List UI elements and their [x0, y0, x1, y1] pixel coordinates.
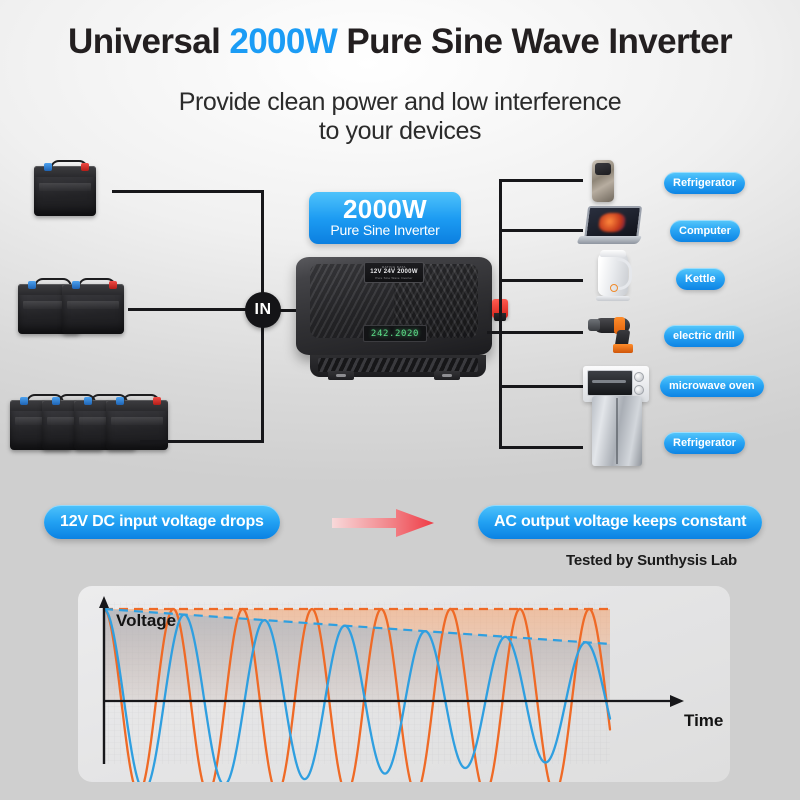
- title-highlight-wattage: 2000W: [229, 22, 337, 61]
- tested-by-label: Tested by Sunthysis Lab: [566, 552, 737, 569]
- subtitle-line-2: to your devices: [0, 117, 800, 146]
- input-node: IN: [245, 292, 281, 328]
- appliance-label-text: Refrigerator: [673, 177, 736, 189]
- oven-knob: [634, 385, 644, 395]
- chart-y-axis-label: Voltage: [116, 611, 176, 630]
- battery-negative-terminal: [84, 397, 92, 405]
- appliance-label-text: Kettle: [685, 273, 716, 285]
- appliance-label-5[interactable]: microwave oven: [660, 375, 764, 397]
- voltage-time-chart: Voltage Time: [78, 586, 730, 782]
- title-suffix: Pure Sine Wave Inverter: [337, 22, 732, 61]
- battery-positive-terminal: [81, 163, 89, 171]
- inverter-lcd-display: 242.2020: [363, 325, 427, 342]
- plate-rating: 12V 24V 2000W: [365, 269, 423, 276]
- wire-branch-4: [499, 331, 583, 334]
- laptop-icon: [578, 206, 640, 246]
- refrigerator-icon: [592, 396, 642, 466]
- wire-output-bus: [499, 179, 502, 449]
- battery-negative-terminal: [20, 397, 28, 405]
- subtitle-line-1: Provide clean power and low interference: [0, 88, 800, 117]
- battery-negative-terminal: [116, 397, 124, 405]
- inverter-body: RATING DATA 12V 24V 2000W Pure Sine Wave…: [296, 257, 492, 355]
- callout-output-text: AC output voltage keeps constant: [494, 513, 746, 531]
- laptop-base: [576, 236, 642, 244]
- kettle-base: [596, 296, 630, 301]
- right-arrow-icon: [330, 505, 440, 541]
- battery-negative-terminal: [52, 397, 60, 405]
- callout-output[interactable]: AC output voltage keeps constant: [478, 505, 762, 539]
- oven-knob: [634, 372, 644, 382]
- chart-canvas: Voltage Time: [78, 586, 730, 782]
- appliance-label-text: electric drill: [673, 330, 735, 342]
- battery-unit: [62, 284, 124, 334]
- title-prefix: Universal: [68, 22, 229, 61]
- drill-icon: [588, 310, 640, 356]
- appliance-label-text: microwave oven: [669, 380, 755, 392]
- tested-by-text: Tested by Sunthysis Lab: [566, 552, 737, 569]
- lcd-value: 242.2020: [371, 329, 419, 339]
- wire-battery-3: [140, 440, 264, 443]
- page-subtitle: Provide clean power and low interference…: [0, 88, 800, 146]
- smartphone-icon: [592, 160, 614, 202]
- wire-branch-5: [499, 385, 583, 388]
- inverter-mounting-foot: [434, 371, 460, 380]
- oven-door: [587, 370, 633, 396]
- drill-battery: [613, 344, 633, 353]
- kettle-handle: [617, 258, 632, 290]
- infographic-page: Universal 2000W Pure Sine Wave Inverter …: [0, 0, 800, 800]
- callout-input[interactable]: 12V DC input voltage drops: [44, 505, 280, 539]
- wire-battery-2: [128, 308, 264, 311]
- appliance-label-text: Computer: [679, 225, 731, 237]
- wire-branch-6: [499, 446, 583, 449]
- input-node-label: IN: [255, 301, 272, 319]
- appliance-label-text: Refrigerator: [673, 437, 736, 449]
- appliance-label-1[interactable]: Refrigerator: [664, 172, 745, 194]
- battery-negative-terminal: [72, 281, 80, 289]
- appliance-label-6[interactable]: Refrigerator: [664, 432, 745, 454]
- appliance-label-3[interactable]: Kettle: [676, 268, 725, 290]
- kettle-lid: [600, 250, 626, 257]
- kettle-indicator: [610, 284, 618, 292]
- plate-subtext: Pure Sine Wave Inverter: [365, 276, 423, 280]
- appliance-label-4[interactable]: electric drill: [664, 325, 744, 347]
- chart-x-axis-label: Time: [684, 711, 723, 730]
- badge-wattage: 2000W: [309, 192, 461, 222]
- inverter-rating-plate: RATING DATA 12V 24V 2000W Pure Sine Wave…: [364, 262, 424, 283]
- wire-branch-3: [499, 279, 583, 282]
- battery-positive-terminal: [109, 281, 117, 289]
- wire-branch-2: [499, 229, 583, 232]
- battery-positive-terminal: [153, 397, 161, 405]
- appliance-label-2[interactable]: Computer: [670, 220, 740, 242]
- kettle-icon: [594, 250, 632, 304]
- inverter-mounting-foot: [328, 371, 354, 380]
- battery-unit: [34, 166, 96, 216]
- battery-negative-terminal: [44, 163, 52, 171]
- drill-chuck: [588, 319, 600, 331]
- wire-battery-1: [112, 190, 264, 193]
- wire-branch-1: [499, 179, 583, 182]
- page-title: Universal 2000W Pure Sine Wave Inverter: [0, 22, 800, 62]
- badge-type: Pure Sine Inverter: [309, 222, 461, 238]
- inverter-badge: 2000W Pure Sine Inverter: [309, 192, 461, 244]
- battery-negative-terminal: [28, 281, 36, 289]
- inverter-device: RATING DATA 12V 24V 2000W Pure Sine Wave…: [292, 253, 500, 383]
- fridge-door-split: [616, 398, 618, 464]
- callout-input-text: 12V DC input voltage drops: [60, 513, 264, 531]
